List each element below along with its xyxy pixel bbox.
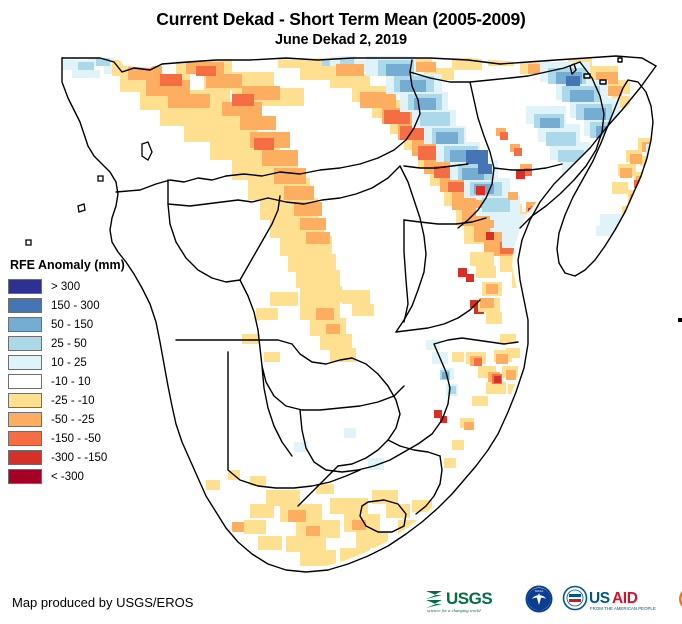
legend-label: 150 - 300: [51, 300, 100, 312]
legend-label: -50 - -25: [51, 414, 94, 426]
legend-label: -300 - -150: [51, 452, 107, 464]
legend-swatch: [8, 450, 42, 465]
page-title: Current Dekad - Short Term Mean (2005-20…: [0, 0, 682, 29]
noaa-logo[interactable]: NOAA: [524, 584, 554, 614]
legend-item[interactable]: 50 - 150: [8, 315, 158, 334]
legend-swatch: [8, 431, 42, 446]
legend-title: RFE Anomaly (mm): [10, 258, 158, 272]
usgs-logo[interactable]: USGS science for a changing world: [424, 584, 516, 614]
legend-item[interactable]: 150 - 300: [8, 296, 158, 315]
usaid-logo[interactable]: US AID FROM THE AMERICAN PEOPLE: [562, 584, 670, 614]
legend-item[interactable]: -10 - 10: [8, 372, 158, 391]
title-block: Current Dekad - Short Term Mean (2005-20…: [0, 0, 682, 49]
fewsnet-logo[interactable]: FEWS NET FAMINE EARLY WARNING SYSTEMS NE…: [678, 584, 682, 614]
legend-label: 25 - 50: [51, 338, 87, 350]
legend-label: < -300: [51, 471, 84, 483]
legend-swatch: [8, 317, 42, 332]
usaid-logo-text-aid: AID: [612, 590, 638, 607]
legend-swatch: [8, 374, 42, 389]
legend-label: 50 - 150: [51, 319, 93, 331]
legend-swatch: [8, 393, 42, 408]
legend-item[interactable]: < -300: [8, 467, 158, 486]
usaid-logo-text-us: US: [589, 590, 610, 607]
legend-label: -25 - -10: [51, 395, 94, 407]
legend-swatch: [8, 298, 42, 313]
legend-swatch: [8, 412, 42, 427]
legend-label: > 300: [51, 281, 80, 293]
noaa-logo-text: NOAA: [535, 589, 544, 593]
legend-item[interactable]: 25 - 50: [8, 334, 158, 353]
legend-label: 10 - 25: [51, 357, 87, 369]
legend-swatch: [8, 469, 42, 484]
page-subtitle: June Dekad 2, 2019: [0, 29, 682, 49]
logo-bar: USGS science for a changing world NOAA U…: [424, 582, 682, 616]
legend-swatch: [8, 336, 42, 351]
legend-item[interactable]: > 300: [8, 277, 158, 296]
usaid-logo-tagline: FROM THE AMERICAN PEOPLE: [590, 606, 656, 611]
legend-item[interactable]: -25 - -10: [8, 391, 158, 410]
legend-label: -10 - 10: [51, 376, 91, 388]
legend-label: -150 - -50: [51, 433, 101, 445]
legend-swatch: [8, 355, 42, 370]
legend: RFE Anomaly (mm) > 300 150 - 300 50 - 15…: [8, 258, 158, 486]
mascarene-islands: [678, 318, 682, 322]
legend-swatch: [8, 279, 42, 294]
legend-item[interactable]: -300 - -150: [8, 448, 158, 467]
usgs-logo-text: USGS: [446, 589, 492, 608]
legend-item[interactable]: 10 - 25: [8, 353, 158, 372]
legend-item[interactable]: -50 - -25: [8, 410, 158, 429]
map-credit: Map produced by USGS/EROS: [12, 595, 193, 610]
usgs-logo-tagline: science for a changing world: [427, 608, 481, 613]
legend-item[interactable]: -150 - -50: [8, 429, 158, 448]
